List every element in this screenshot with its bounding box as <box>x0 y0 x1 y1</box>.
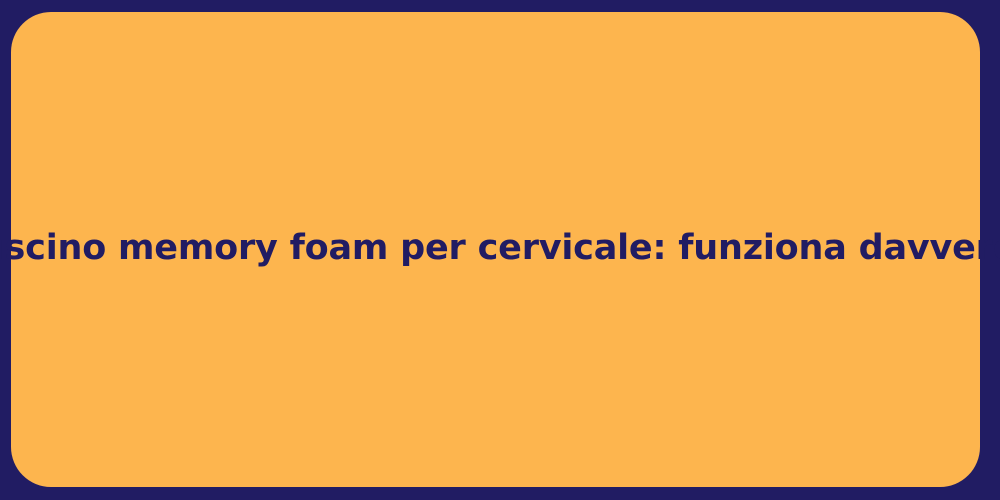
content-card: Cuscino memory foam per cervicale: funzi… <box>11 12 980 487</box>
headline-container: Cuscino memory foam per cervicale: funzi… <box>11 12 980 487</box>
page-background: Cuscino memory foam per cervicale: funzi… <box>0 0 1000 500</box>
page-title: Cuscino memory foam per cervicale: funzi… <box>0 228 1000 269</box>
